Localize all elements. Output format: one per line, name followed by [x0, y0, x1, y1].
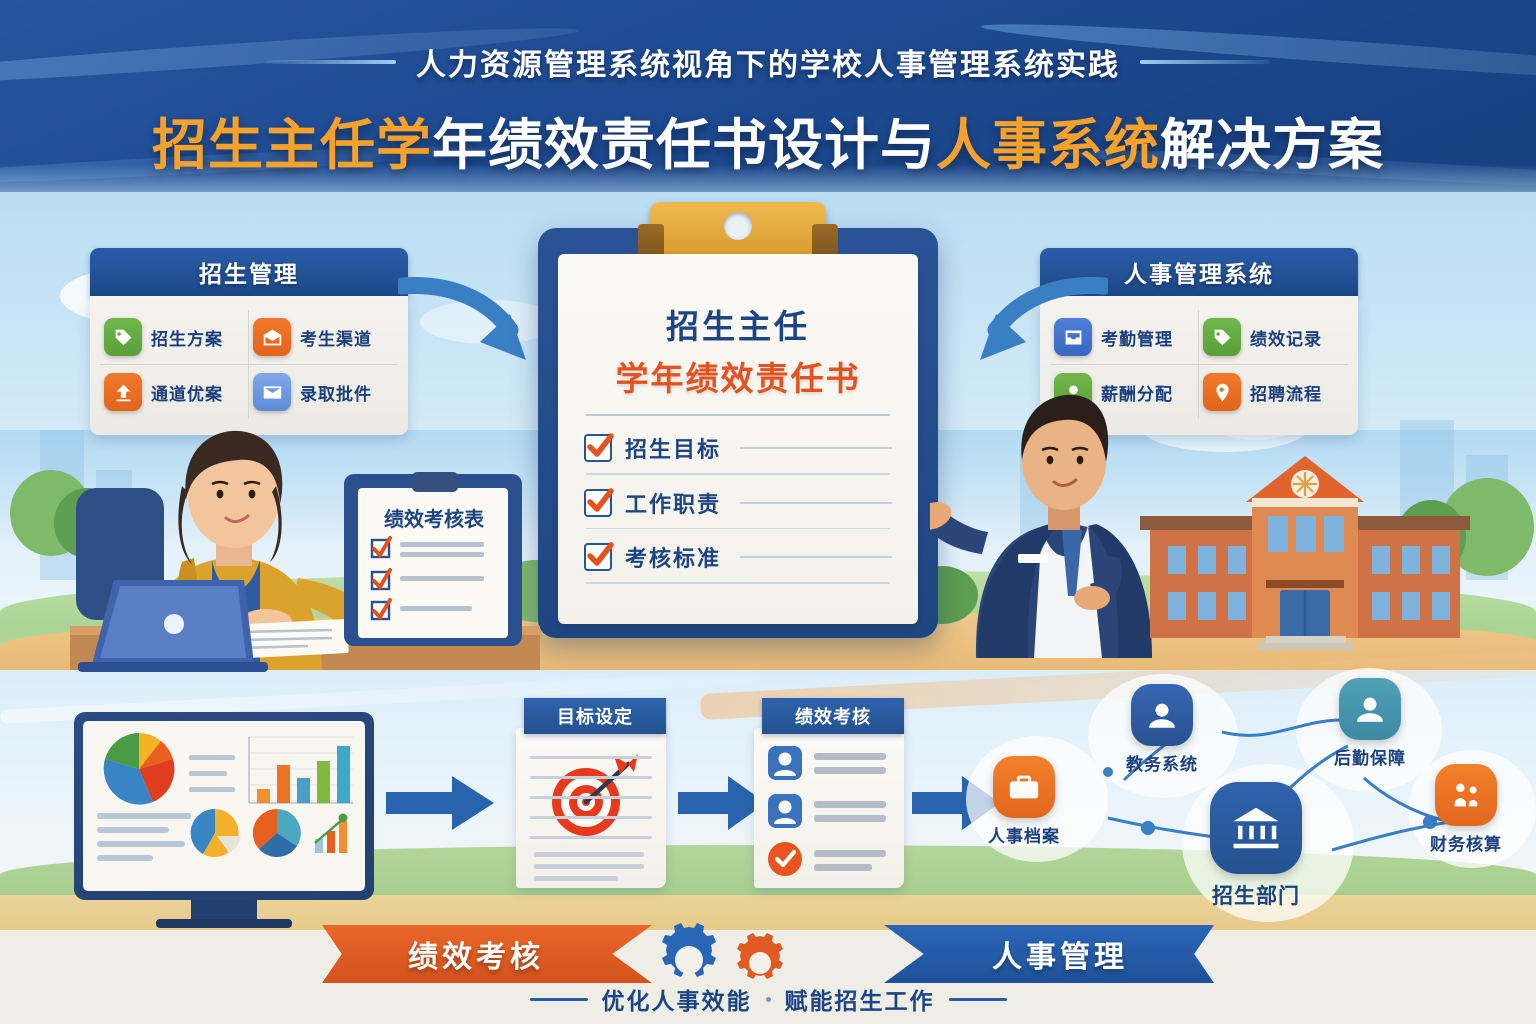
checklist-item[interactable]: 考核标准: [584, 541, 892, 573]
bar-chart: [249, 737, 353, 803]
checklist-item[interactable]: 招生目标: [584, 432, 892, 464]
settings-people-icon: [1435, 764, 1497, 826]
flow-card-1-rule: [530, 776, 652, 779]
check-mark-icon: [583, 538, 617, 572]
person-icon: [1131, 684, 1193, 746]
checklist-label: 招生目标: [625, 432, 721, 464]
laptop-illustration: [78, 572, 268, 672]
network-node-hr-archive[interactable]: 人事档案: [988, 756, 1060, 847]
title-deco-line-right: [1140, 60, 1270, 64]
network-node-logistics[interactable]: 后勤保障: [1334, 678, 1406, 769]
clipboard-performance-agreement[interactable]: 招生主任 学年绩效责任书 招生目标 工作职责: [538, 228, 938, 638]
header-subtitle: 人力资源管理系统视角下的学校人事管理系统实践: [416, 40, 1120, 84]
mail-icon: [253, 373, 291, 411]
monitor-frame: [74, 712, 374, 900]
gear-cluster: [648, 923, 838, 985]
flow-card-1-text: [534, 864, 644, 869]
checklist-label: 考核标准: [625, 541, 721, 573]
network-node-center-admissions[interactable]: 招生部门: [1210, 782, 1302, 910]
check-mark-icon: [583, 429, 617, 463]
school-icon: [1210, 782, 1302, 874]
flow-card-1-rule: [530, 756, 652, 759]
clipboard-title-line1: 招生主任: [584, 300, 892, 348]
envelope-open-icon: [253, 318, 291, 356]
header-bottom-fade: [0, 164, 1536, 192]
flow-card-2-body: [754, 728, 904, 888]
feature-item[interactable]: 绩效记录: [1199, 310, 1348, 365]
footer-tagline: 优化人事效能 赋能招生工作: [0, 982, 1536, 1016]
network-node-center-label: 招生部门: [1210, 880, 1302, 910]
clipboard-divider: [586, 414, 890, 416]
checklist-rule: [740, 502, 892, 504]
panel-hr-title: 人事管理系统: [1124, 255, 1274, 289]
ribbon-left-label: 绩效考核: [408, 932, 544, 976]
flow-card-2-header: 绩效考核: [762, 698, 904, 734]
check-mark-icon: [583, 484, 617, 518]
woman-held-clipboard: 绩效考核表: [340, 470, 530, 650]
pie-chart-mini-2: [253, 809, 301, 857]
flow-card-goal-setting[interactable]: 目标设定: [516, 698, 666, 888]
feature-label: 录取批件: [300, 380, 372, 405]
monitor-screen: [83, 721, 365, 891]
bottom-ribbon: 绩效考核 人事管理: [0, 915, 1536, 991]
checkbox-checked[interactable]: [584, 489, 612, 517]
ribbon-right-label: 人事管理: [992, 932, 1128, 976]
feature-item[interactable]: 招聘流程: [1199, 365, 1348, 419]
woman-clipboard-title: 绩效考核表: [384, 507, 485, 531]
panel-admissions-title: 招生管理: [199, 255, 299, 289]
checklist-item[interactable]: 工作职责: [584, 487, 892, 519]
pie-chart-mini-1: [191, 809, 241, 857]
flow-card-1-header: 目标设定: [524, 698, 666, 734]
feature-label: 通道优案: [151, 380, 223, 405]
people-list-icon: [768, 746, 892, 878]
checklist-rule: [740, 556, 892, 558]
pie-chart-main: [104, 733, 175, 805]
checklist-underline: [586, 582, 890, 584]
feature-label: 考勤管理: [1101, 325, 1173, 350]
footer-rule-right: [949, 998, 1007, 1001]
flow-card-1-text: [534, 876, 618, 881]
arrow-left-to-clipboard: [398, 268, 558, 378]
footer-rule-left: [530, 998, 588, 1001]
panel-admissions[interactable]: 招生管理 招生方案 考生渠道 通道优案: [90, 248, 408, 435]
briefcase-icon: [993, 756, 1055, 818]
header-subtitle-row: 人力资源管理系统视角下的学校人事管理系统实践: [0, 40, 1536, 84]
feature-item[interactable]: 考生渠道: [249, 310, 398, 365]
footer-text-right: 赋能招生工作: [785, 982, 935, 1016]
panel-admissions-header: 招生管理: [90, 248, 408, 296]
network-node-finance[interactable]: 财务核算: [1430, 764, 1502, 855]
network-node-academic[interactable]: 教务系统: [1126, 684, 1198, 775]
clipboard-ring-hole: [724, 212, 752, 240]
checklist-underline: [586, 528, 890, 530]
network-node-label: 财务核算: [1430, 830, 1502, 855]
feature-label: 招聘流程: [1250, 380, 1322, 405]
flow-card-1-text: [534, 852, 644, 857]
flow-arrow-1: [386, 772, 496, 834]
footer-separator-dot: [766, 997, 771, 1002]
flow-card-performance-review[interactable]: 绩效考核: [754, 698, 904, 888]
flow-card-1-body: [516, 728, 666, 888]
checklist-underline: [586, 473, 890, 475]
feature-item[interactable]: 招生方案: [100, 310, 249, 365]
title-deco-line-left: [266, 60, 396, 64]
checkbox-checked[interactable]: [584, 434, 612, 462]
infographic-canvas: 人力资源管理系统视角下的学校人事管理系统实践 招生主任学年绩效责任书设计与人事系…: [0, 0, 1536, 1024]
network-node-label: 教务系统: [1126, 750, 1198, 775]
clipboard-title-line2: 学年绩效责任书: [584, 352, 892, 400]
footer-text-left: 优化人事效能: [602, 982, 752, 1016]
person-icon: [1339, 678, 1401, 740]
clipboard-page: 招生主任 学年绩效责任书 招生目标 工作职责: [558, 254, 918, 624]
upload-icon: [104, 373, 142, 411]
checkbox-checked[interactable]: [584, 543, 612, 571]
network-node-label: 后勤保障: [1334, 744, 1406, 769]
school-building-illustration: [1140, 450, 1470, 650]
trend-chart: [315, 814, 348, 854]
flow-card-1-rule: [530, 796, 652, 799]
tag-icon: [1203, 318, 1241, 356]
feature-label: 招生方案: [151, 325, 223, 350]
flow-card-1-rule: [530, 816, 652, 819]
dashboard-charts: [83, 721, 365, 891]
flow-card-1-rule: [530, 836, 652, 839]
checklist-rule: [740, 447, 892, 449]
tag-icon: [104, 318, 142, 356]
ribbon-right: 人事管理: [884, 925, 1214, 983]
dashboard-monitor[interactable]: [74, 712, 374, 900]
network-node-label: 人事档案: [988, 822, 1060, 847]
feature-label: 考生渠道: [300, 325, 372, 350]
header-banner: 人力资源管理系统视角下的学校人事管理系统实践 招生主任学年绩效责任书设计与人事系…: [0, 0, 1536, 192]
flow-card-1-title: 目标设定: [557, 703, 633, 729]
network-diagram: 人事档案 教务系统 后勤保障 财务核算 招生部门: [960, 660, 1530, 940]
flow-card-2-title: 绩效考核: [795, 703, 871, 729]
feature-label: 绩效记录: [1250, 325, 1322, 350]
checklist-label: 工作职责: [625, 487, 721, 519]
ribbon-left: 绩效考核: [322, 925, 652, 983]
